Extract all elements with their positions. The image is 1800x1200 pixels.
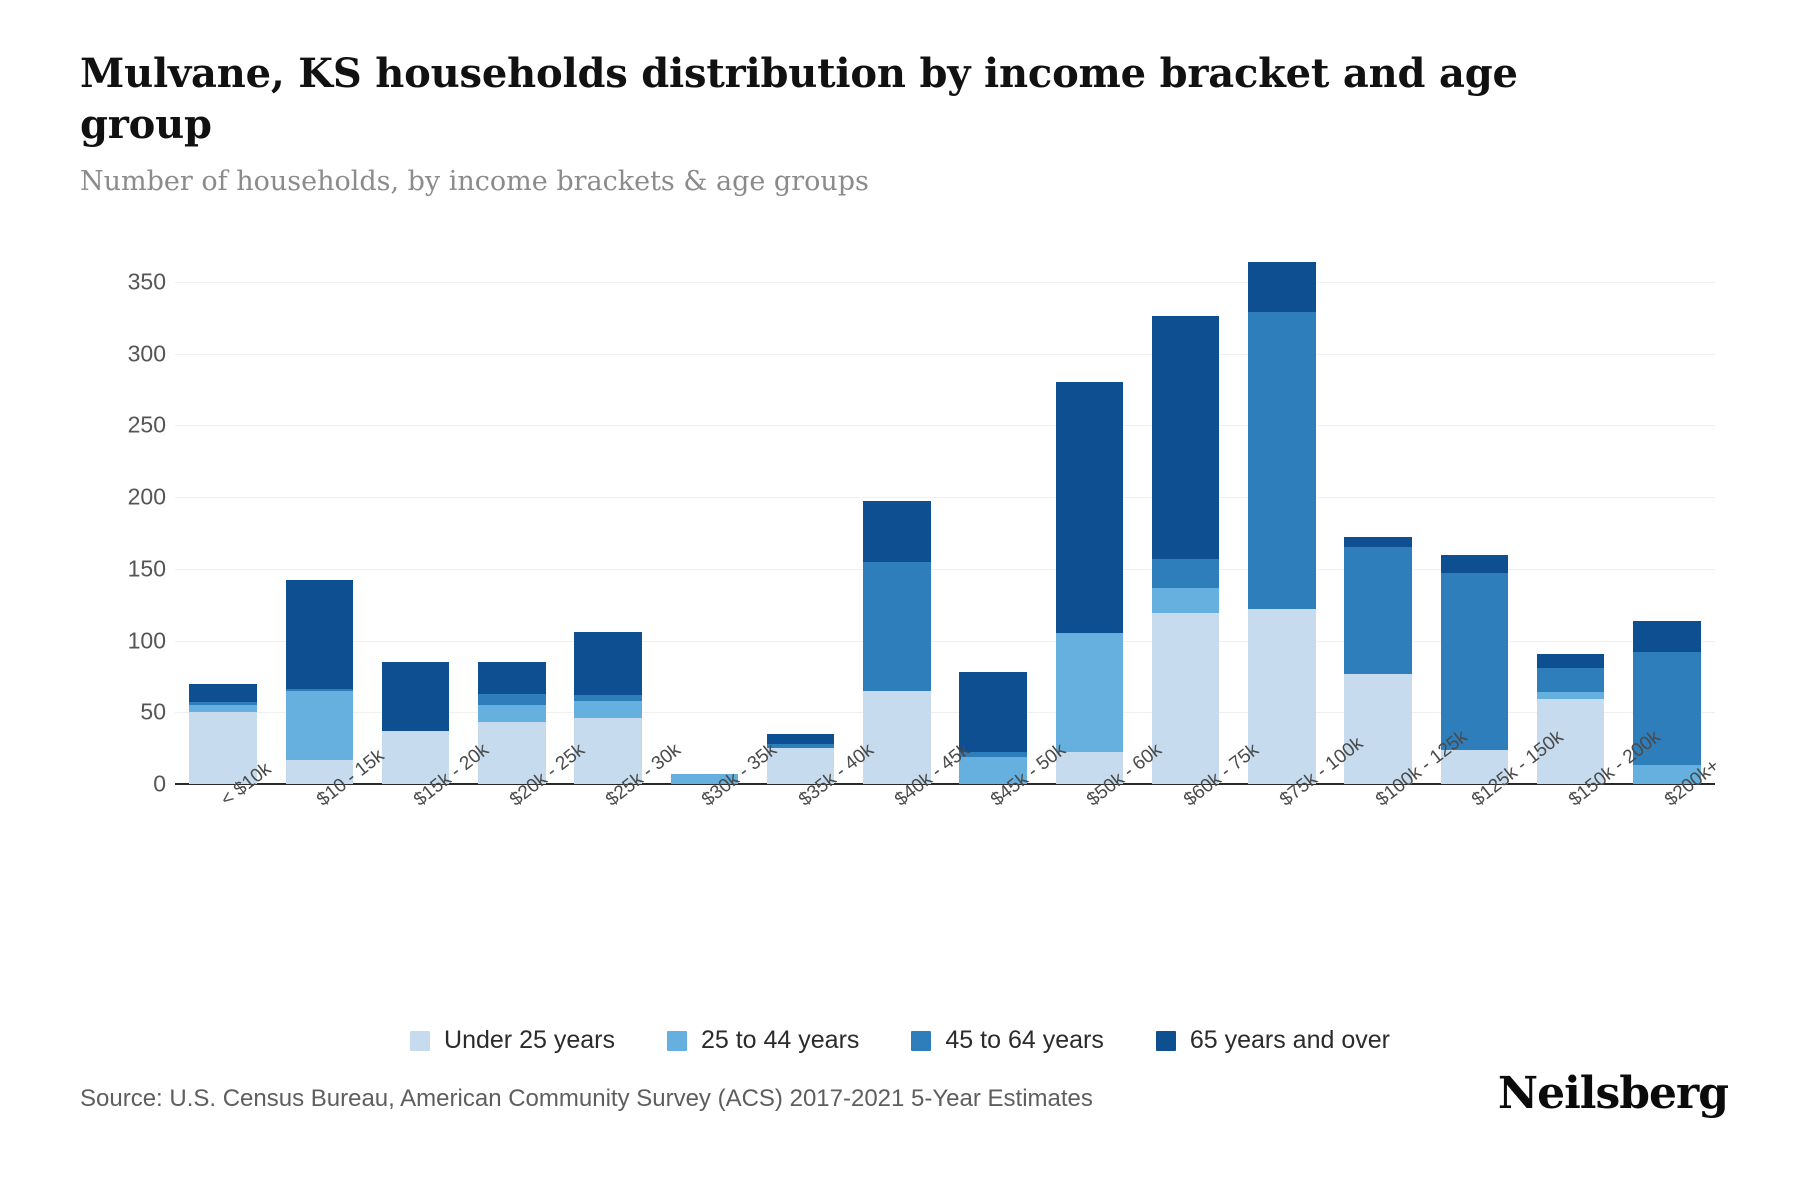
legend-swatch-icon: [911, 1031, 931, 1051]
bar-segment[interactable]: [478, 705, 545, 722]
chart-legend: Under 25 years25 to 44 years45 to 64 yea…: [0, 1026, 1800, 1055]
legend-swatch-icon: [410, 1031, 430, 1051]
y-axis-tick-label: 150: [86, 555, 166, 582]
bar-stack[interactable]: [1056, 382, 1123, 784]
y-axis-tick-label: 350: [86, 269, 166, 296]
bar-segment[interactable]: [1441, 573, 1508, 749]
bar-segment[interactable]: [767, 734, 834, 744]
bar-stack[interactable]: [1152, 316, 1219, 784]
source-note: Source: U.S. Census Bureau, American Com…: [80, 1085, 1093, 1113]
bar-segment[interactable]: [574, 632, 641, 695]
bars-layer: [175, 282, 1715, 784]
bar-segment[interactable]: [1248, 262, 1315, 312]
legend-item-label: Under 25 years: [444, 1026, 615, 1055]
legend-swatch-icon: [1156, 1031, 1176, 1051]
bar-segment[interactable]: [1537, 668, 1604, 692]
legend-swatch-icon: [667, 1031, 687, 1051]
legend-item-label: 45 to 64 years: [945, 1026, 1103, 1055]
bar-segment[interactable]: [189, 705, 256, 712]
plot-area: [175, 282, 1715, 784]
bar-segment[interactable]: [1441, 555, 1508, 574]
legend-item[interactable]: 65 years and over: [1156, 1026, 1390, 1055]
bar-stack[interactable]: [574, 632, 641, 784]
bar-segment[interactable]: [1152, 588, 1219, 614]
bar-segment[interactable]: [1152, 316, 1219, 558]
bar-stack[interactable]: [286, 580, 353, 784]
bar-segment[interactable]: [286, 580, 353, 689]
legend-item[interactable]: Under 25 years: [410, 1026, 615, 1055]
bar-stack[interactable]: [959, 672, 1026, 784]
bar-stack[interactable]: [189, 684, 256, 784]
bar-segment[interactable]: [286, 691, 353, 760]
bar-segment[interactable]: [863, 501, 930, 561]
bar-stack[interactable]: [1537, 654, 1604, 784]
bar-segment[interactable]: [1152, 559, 1219, 588]
y-axis-tick-label: 100: [86, 627, 166, 654]
bar-segment[interactable]: [478, 662, 545, 694]
bar-segment[interactable]: [1056, 633, 1123, 752]
bar-segment[interactable]: [382, 662, 449, 731]
bar-segment[interactable]: [1537, 654, 1604, 668]
y-axis-tick-label: 300: [86, 340, 166, 367]
bar-segment[interactable]: [1344, 537, 1411, 547]
bar-segment[interactable]: [189, 684, 256, 703]
legend-item[interactable]: 25 to 44 years: [667, 1026, 859, 1055]
bar-segment[interactable]: [1344, 547, 1411, 673]
bar-segment[interactable]: [1537, 692, 1604, 699]
bar-segment[interactable]: [959, 672, 1026, 752]
brand-logo: Neilsberg: [1498, 1068, 1728, 1119]
y-axis-tick-label: 0: [86, 771, 166, 798]
bar-segment[interactable]: [1344, 674, 1411, 784]
bar-segment[interactable]: [574, 701, 641, 718]
bar-segment[interactable]: [1248, 312, 1315, 609]
y-axis-tick-label: 200: [86, 484, 166, 511]
bar-segment[interactable]: [1056, 382, 1123, 633]
legend-item-label: 25 to 44 years: [701, 1026, 859, 1055]
bar-segment[interactable]: [1633, 621, 1700, 653]
legend-item-label: 65 years and over: [1190, 1026, 1390, 1055]
chart-page: Mulvane, KS households distribution by i…: [0, 0, 1800, 1200]
y-axis-tick-label: 50: [86, 699, 166, 726]
bar-stack[interactable]: [478, 662, 545, 784]
y-axis-tick-label: 250: [86, 412, 166, 439]
legend-item[interactable]: 45 to 64 years: [911, 1026, 1103, 1055]
bar-stack[interactable]: [382, 662, 449, 784]
bar-stack[interactable]: [863, 501, 930, 784]
bar-stack[interactable]: [1248, 262, 1315, 784]
bar-segment[interactable]: [863, 562, 930, 691]
bar-segment[interactable]: [478, 694, 545, 705]
chart-plot-wrapper: 050100150200250300350 < $10k$10 - 15k$15…: [0, 0, 1800, 1200]
